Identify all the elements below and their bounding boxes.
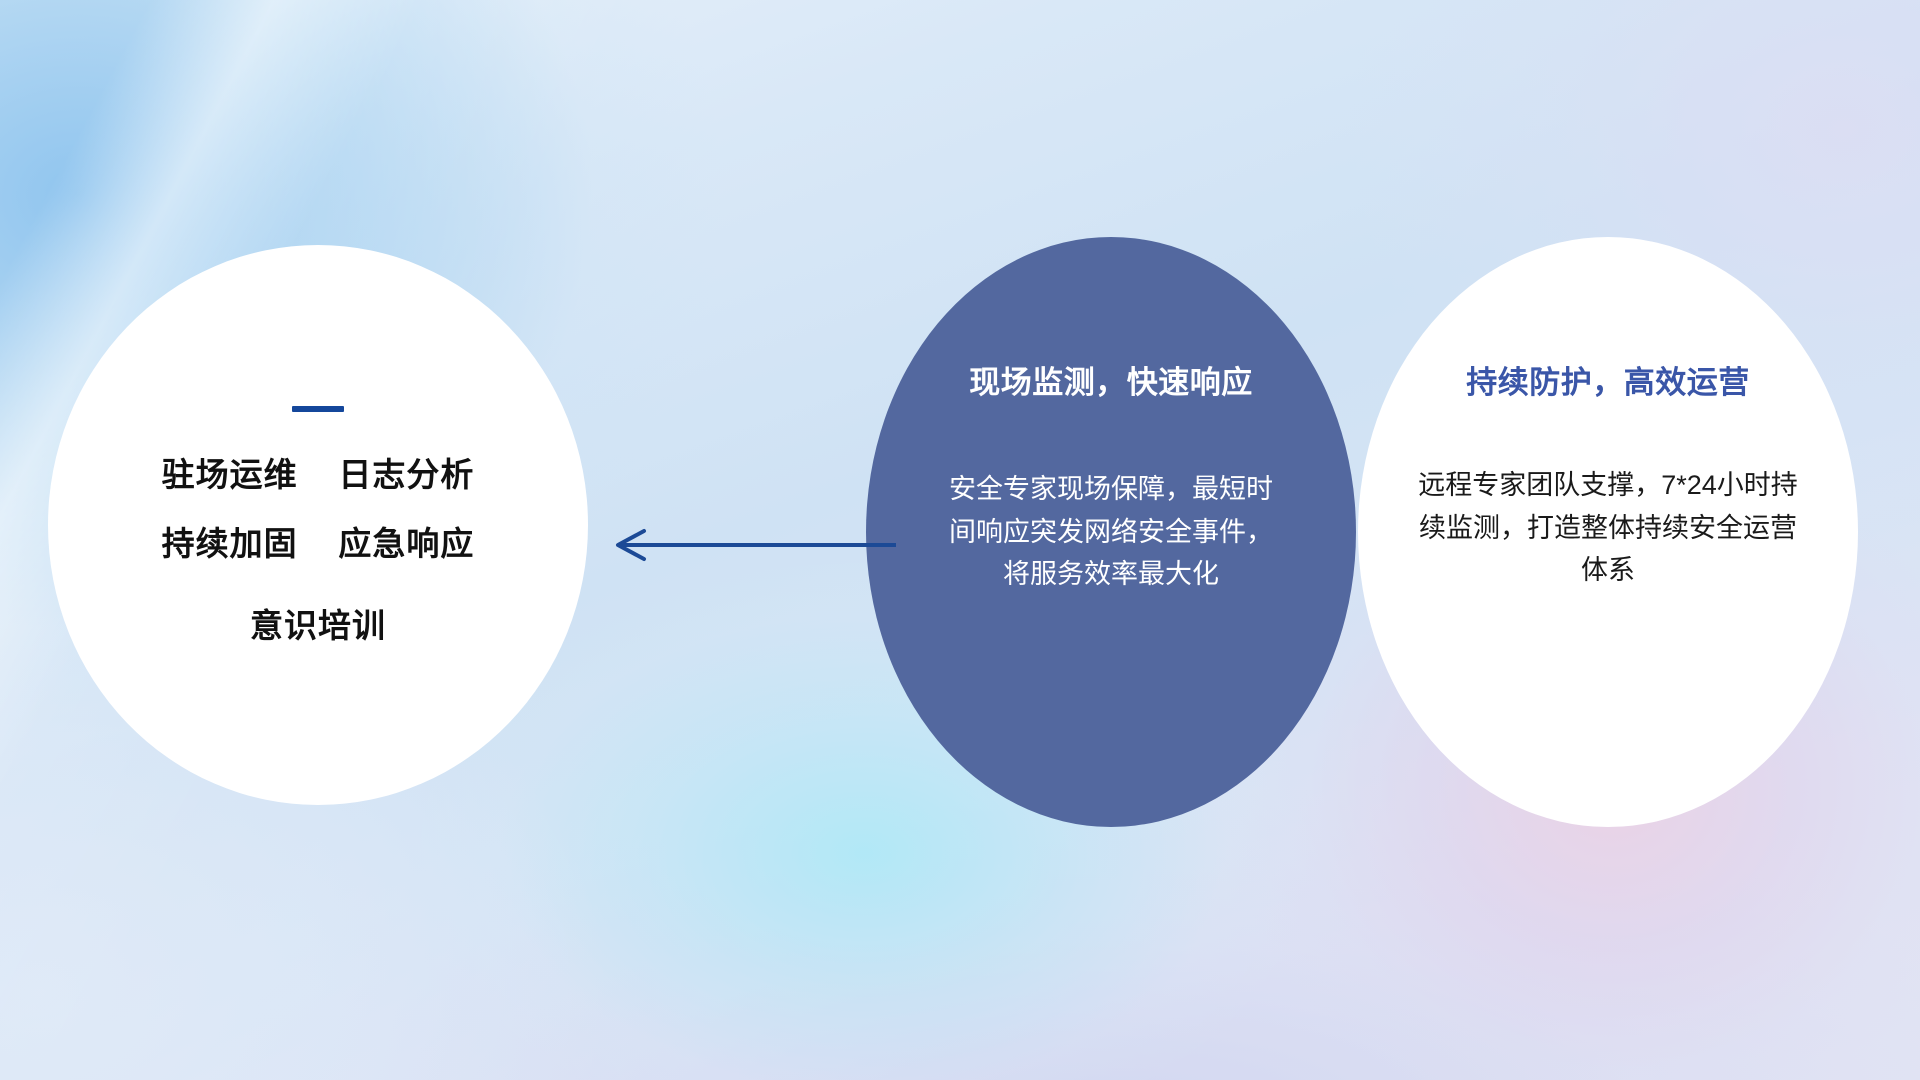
- middle-circle-body: 安全专家现场保障，最短时间响应突发网络安全事件，将服务效率最大化: [946, 468, 1276, 596]
- divider-dash-icon: [292, 406, 344, 412]
- right-circle-body: 远程专家团队支撑，7*24小时持续监测，打造整体持续安全运营体系: [1408, 464, 1808, 592]
- middle-circle-content: 现场监测，快速响应 安全专家现场保障，最短时间响应突发网络安全事件，将服务效率最…: [866, 237, 1356, 827]
- right-circle-content: 持续防护，高效运营 远程专家团队支撑，7*24小时持续监测，打造整体持续安全运营…: [1358, 237, 1858, 827]
- connector-arrow-left: [600, 515, 900, 575]
- right-circle-title: 持续防护，高效运营: [1466, 357, 1750, 402]
- capability-line-2: 持续加固 应急响应: [162, 527, 475, 562]
- capability-line-3: 意识培训: [250, 609, 386, 644]
- left-circle-content: 驻场运维 日志分析 持续加固 应急响应 意识培训: [48, 245, 588, 805]
- capability-line-1: 驻场运维 日志分析: [162, 458, 475, 493]
- middle-circle-title: 现场监测，快速响应: [969, 357, 1253, 402]
- slide-canvas: 驻场运维 日志分析 持续加固 应急响应 意识培训 现场监测，快速响应 安全专家现…: [0, 0, 1920, 1080]
